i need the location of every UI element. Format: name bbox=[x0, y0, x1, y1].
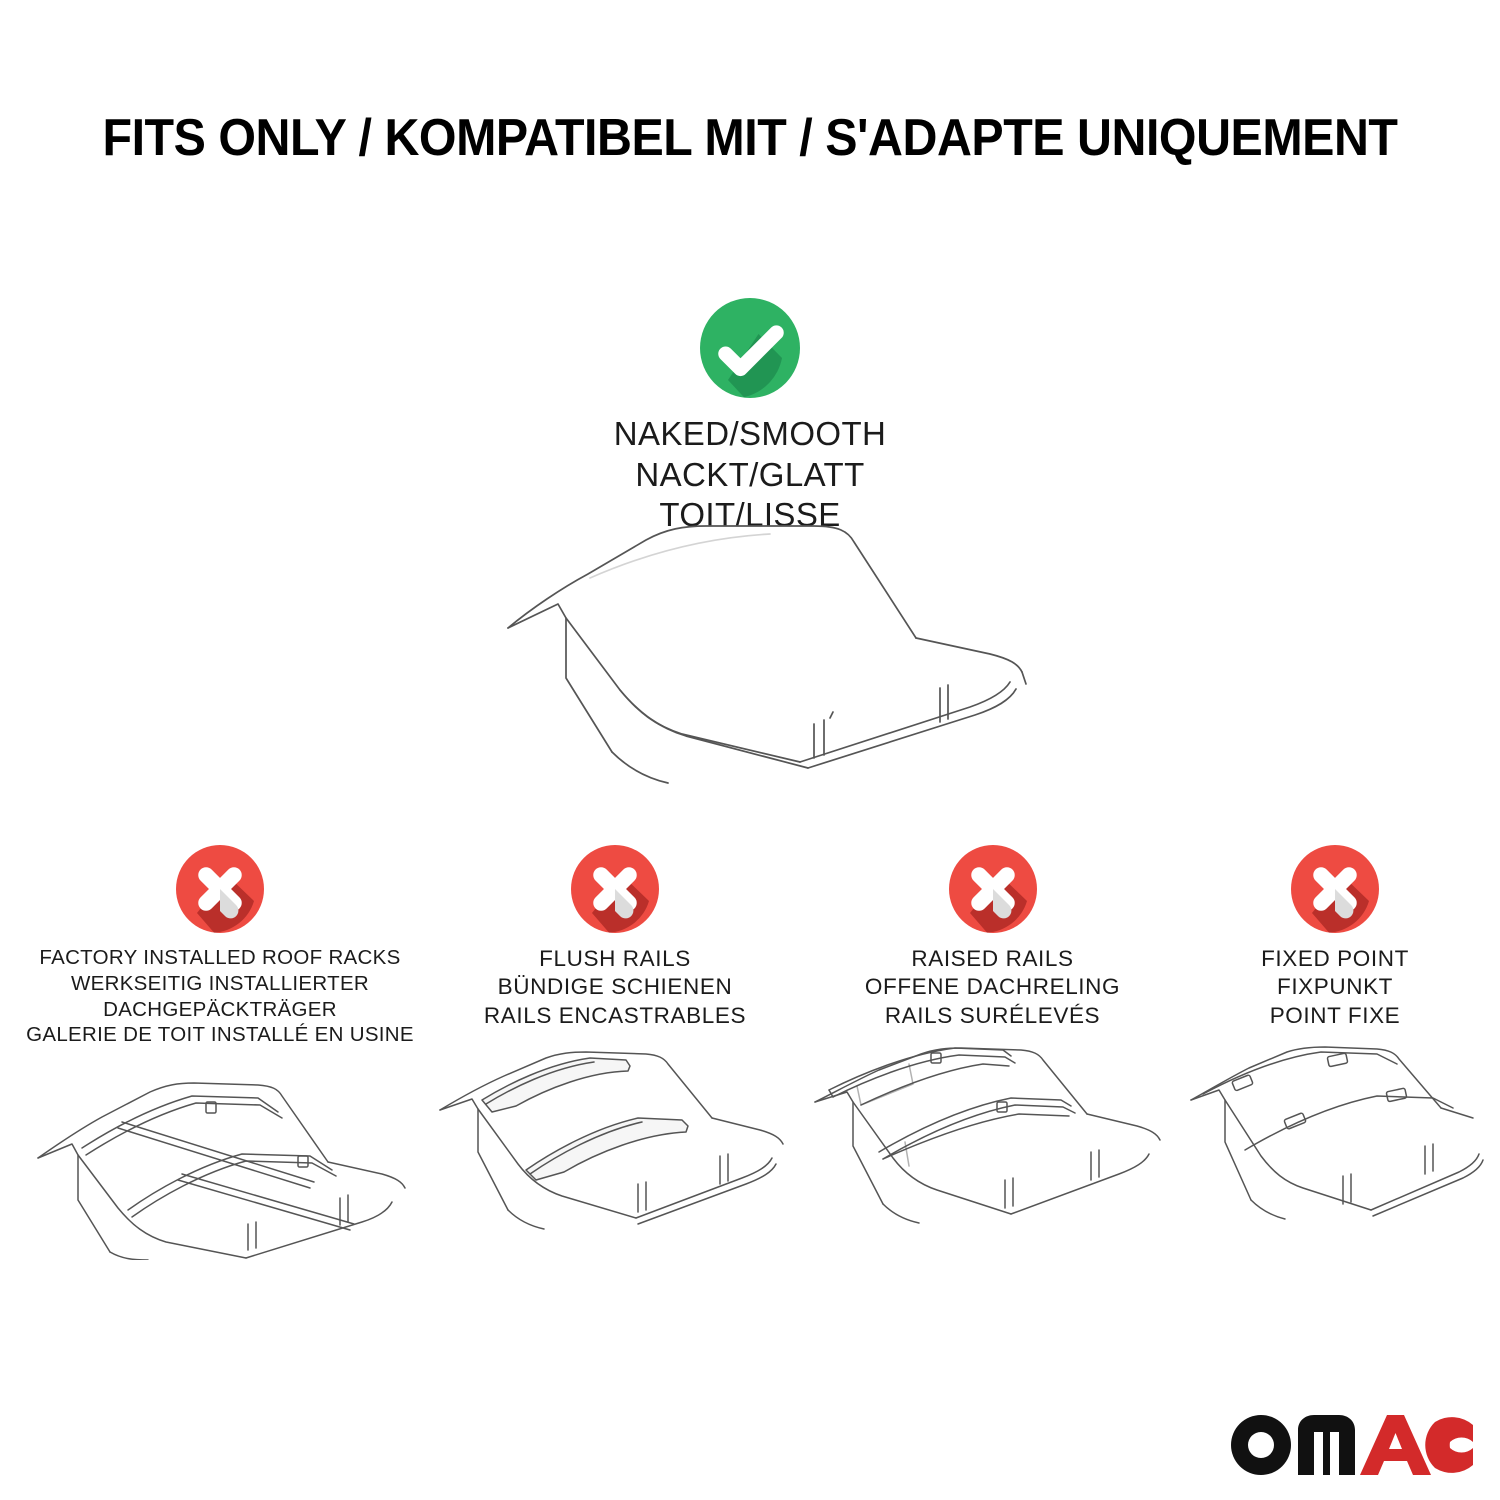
incompatible-label-line-1: FLUSH RAILS bbox=[430, 945, 800, 973]
car-roof-fixed-point-illustration bbox=[1185, 1042, 1485, 1242]
car-roof-raised-rails-illustration bbox=[805, 1042, 1180, 1242]
incompatible-item-raised-rails: RAISED RAILS OFFENE DACHRELING RAILS SUR… bbox=[805, 843, 1180, 1242]
compatible-label-line-1: NAKED/SMOOTH bbox=[450, 414, 1050, 455]
incompatible-label-line-3: POINT FIXE bbox=[1185, 1002, 1485, 1030]
incompatible-labels: FLUSH RAILS BÜNDIGE SCHIENEN RAILS ENCAS… bbox=[430, 945, 800, 1030]
incompatible-labels: RAISED RAILS OFFENE DACHRELING RAILS SUR… bbox=[805, 945, 1180, 1030]
incompatible-label-line-2: OFFENE DACHRELING bbox=[805, 973, 1180, 1001]
incompatible-item-flush-rails: FLUSH RAILS BÜNDIGE SCHIENEN RAILS ENCAS… bbox=[430, 843, 800, 1242]
incompatible-label-line-3: DACHGEPÄCKTRÄGER bbox=[10, 997, 430, 1023]
incompatible-item-fixed-point: FIXED POINT FIXPUNKT POINT FIXE bbox=[1185, 843, 1485, 1242]
cross-circle-icon bbox=[1289, 843, 1381, 935]
check-circle-icon bbox=[698, 296, 802, 400]
incompatible-labels: FACTORY INSTALLED ROOF RACKS WERKSEITIG … bbox=[10, 945, 430, 1048]
compatible-section: NAKED/SMOOTH NACKT/GLATT TOIT/LISSE bbox=[450, 296, 1050, 536]
incompatible-label-line-2: BÜNDIGE SCHIENEN bbox=[430, 973, 800, 1001]
incompatible-labels: FIXED POINT FIXPUNKT POINT FIXE bbox=[1185, 945, 1485, 1030]
incompatible-label-line-2: FIXPUNKT bbox=[1185, 973, 1485, 1001]
page-title: FITS ONLY / KOMPATIBEL MIT / S'ADAPTE UN… bbox=[53, 108, 1448, 168]
incompatible-label-line-3: RAILS SURÉLEVÉS bbox=[805, 1002, 1180, 1030]
cross-circle-icon bbox=[569, 843, 661, 935]
incompatible-label-line-1: FACTORY INSTALLED ROOF RACKS bbox=[10, 945, 430, 971]
incompatible-section: FACTORY INSTALLED ROOF RACKS WERKSEITIG … bbox=[0, 843, 1500, 1273]
incompatible-label-line-1: FIXED POINT bbox=[1185, 945, 1485, 973]
incompatible-label-line-1: RAISED RAILS bbox=[805, 945, 1180, 973]
cross-circle-icon bbox=[174, 843, 266, 935]
incompatible-label-line-2: WERKSEITIG INSTALLIERTER bbox=[10, 971, 430, 997]
compatible-label-line-2: NACKT/GLATT bbox=[450, 455, 1050, 496]
incompatible-item-factory-roof-racks: FACTORY INSTALLED ROOF RACKS WERKSEITIG … bbox=[10, 843, 430, 1260]
cross-circle-icon bbox=[947, 843, 1039, 935]
incompatible-label-line-4: GALERIE DE TOIT INSTALLÉ EN USINE bbox=[10, 1022, 430, 1048]
car-roof-flush-rails-illustration bbox=[430, 1042, 800, 1242]
omac-logo bbox=[1226, 1404, 1476, 1480]
car-roof-factory-racks-illustration bbox=[10, 1060, 430, 1260]
incompatible-label-line-3: RAILS ENCASTRABLES bbox=[430, 1002, 800, 1030]
car-roof-naked-smooth-illustration bbox=[470, 512, 1050, 802]
